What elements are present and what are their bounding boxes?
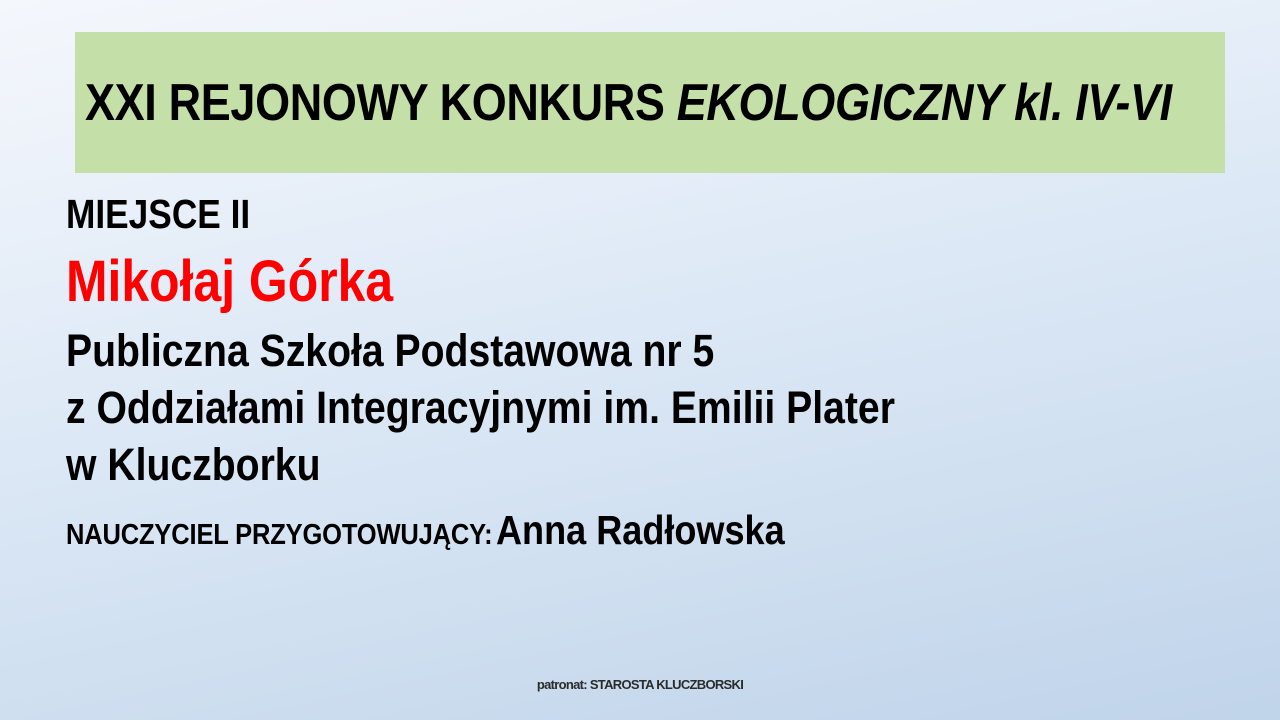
title-banner: XXI REJONOWY KONKURS EKOLOGICZNY kl. IV-… <box>75 32 1225 173</box>
school-line-1: Publiczna Szkoła Podstawowa nr 5 <box>66 322 1075 379</box>
teacher-label: NAUCZYCIEL PRZYGOTOWUJĄCY: <box>66 519 492 551</box>
teacher-line: NAUCZYCIEL PRZYGOTOWUJĄCY:Anna Radłowska <box>66 507 1087 554</box>
presentation-slide: XXI REJONOWY KONKURS EKOLOGICZNY kl. IV-… <box>0 0 1280 720</box>
school-line-3: w Kluczborku <box>66 436 1075 493</box>
place-label: MIEJSCE II <box>66 190 1064 238</box>
teacher-name: Anna Radłowska <box>496 507 785 553</box>
award-body: MIEJSCE II Mikołaj Górka Publiczna Szkoł… <box>66 190 1226 554</box>
school-line-2: z Oddziałami Integracyjnymi im. Emilii P… <box>66 379 1075 436</box>
title-italic-part: EKOLOGICZNY kl. IV-VI <box>677 74 1172 132</box>
patron-footer: patronat: STAROSTA KLUCZBORSKI <box>0 677 1280 692</box>
title-plain-part: XXI REJONOWY KONKURS <box>85 74 677 132</box>
slide-title: XXI REJONOWY KONKURS EKOLOGICZNY kl. IV-… <box>85 76 1064 130</box>
winner-name: Mikołaj Górka <box>66 250 1064 314</box>
